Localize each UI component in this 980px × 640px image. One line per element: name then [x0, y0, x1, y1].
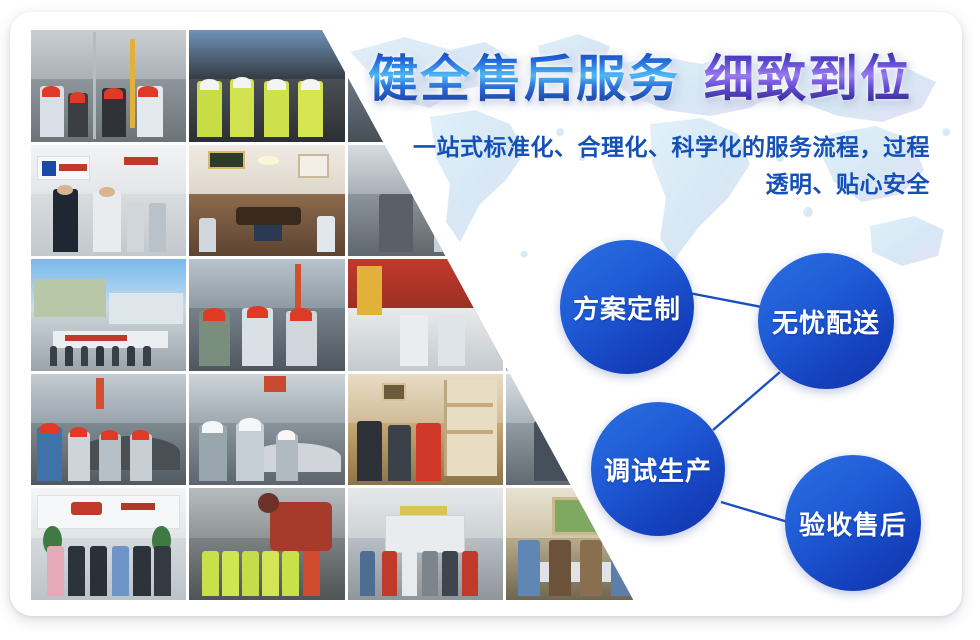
flow-node-debug[interactable]: 调试生产 — [591, 402, 725, 536]
connector-plan-to-delivery — [689, 293, 767, 308]
flow-node-acceptance-label: 验收售后 — [799, 505, 907, 542]
flow-node-debug-label: 调试生产 — [604, 451, 712, 488]
content-card: 健全售后服务细致到位 一站式标准化、合理化、科学化的服务流程，过程 透明、贴心安… — [10, 12, 962, 616]
flow-node-acceptance[interactable]: 验收售后 — [785, 455, 921, 591]
poster-canvas: 健全售后服务细致到位 一站式标准化、合理化、科学化的服务流程，过程 透明、贴心安… — [0, 0, 980, 640]
service-flow-diagram: 方案定制 无忧配送 调试生产 验收售后 — [10, 12, 962, 616]
flow-node-delivery[interactable]: 无忧配送 — [758, 253, 894, 389]
flow-node-plan-label: 方案定制 — [573, 289, 681, 326]
flow-node-delivery-label: 无忧配送 — [772, 303, 880, 340]
flow-node-plan[interactable]: 方案定制 — [560, 240, 694, 374]
connector-delivery-to-debug — [713, 372, 780, 430]
